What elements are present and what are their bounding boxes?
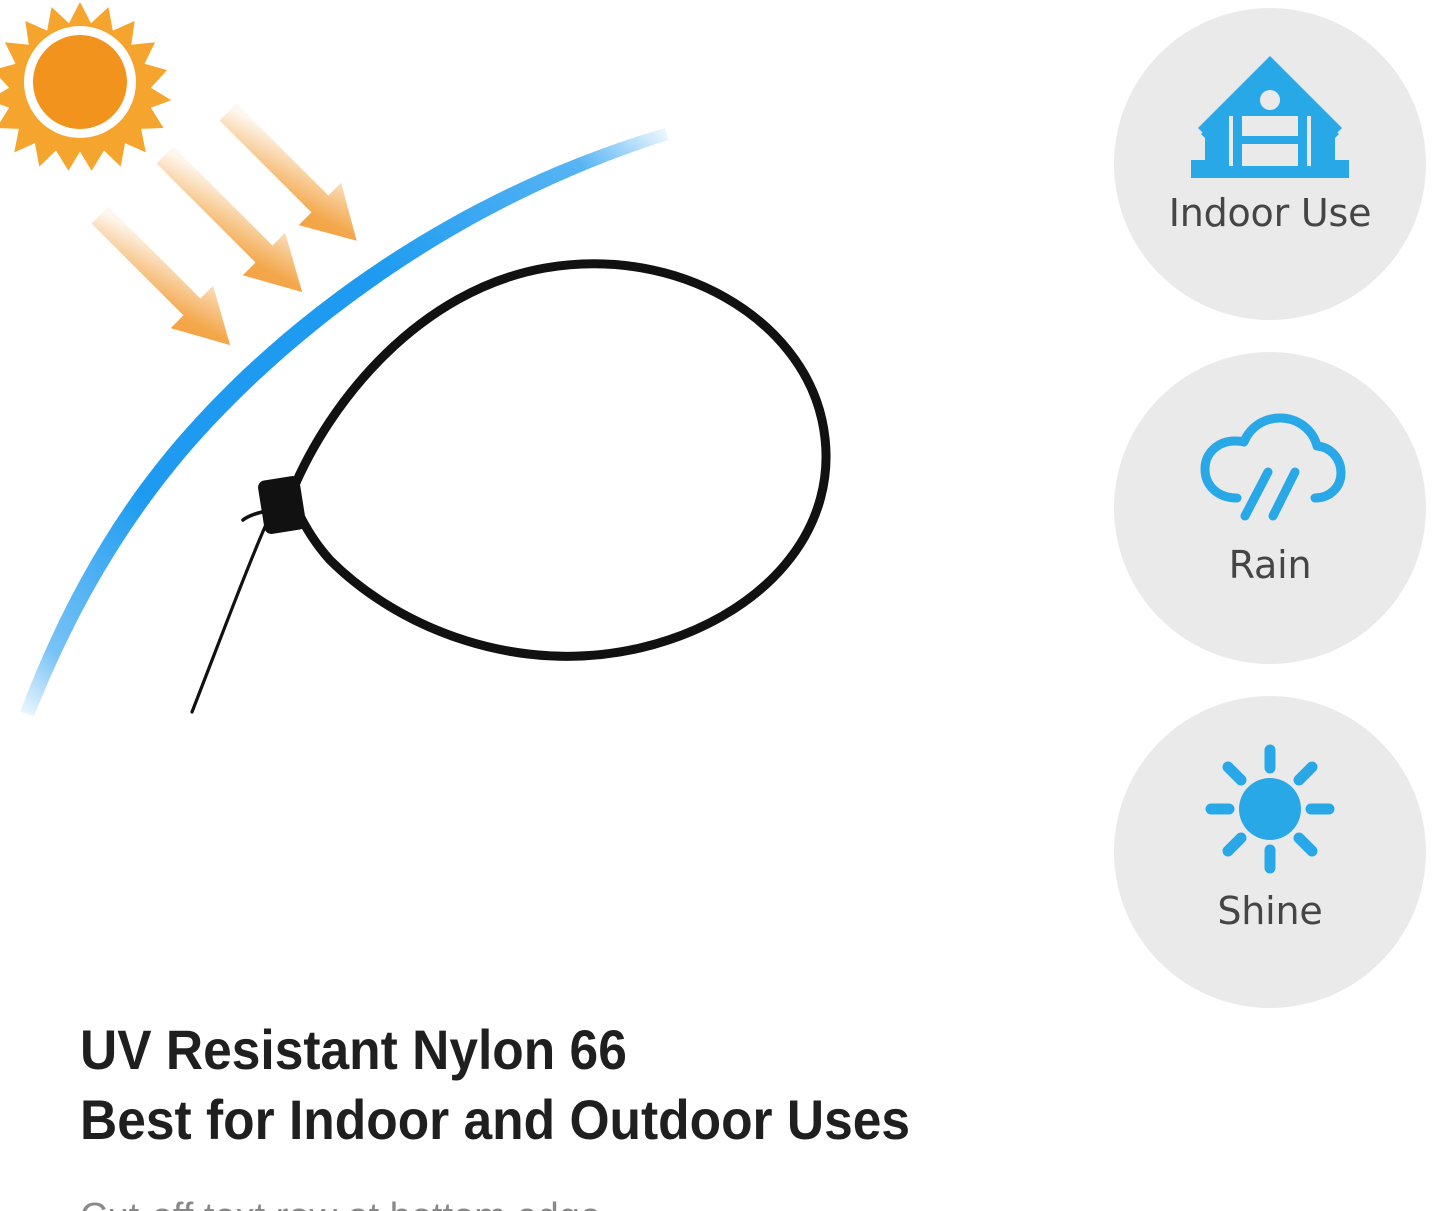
house-icon [1185,54,1355,184]
badge-label-rain: Rain [1229,546,1312,586]
feature-badge-column: Indoor Use Rain [1108,0,1432,1020]
badge-label-shine: Shine [1217,892,1322,932]
badge-rain[interactable]: Rain [1114,352,1426,664]
rain-cloud-icon [1185,406,1355,530]
headline-line-2: Best for Indoor and Outdoor Uses [80,1085,963,1155]
badge-indoor-use[interactable]: Indoor Use [1114,8,1426,320]
cable-tie-head [257,475,307,535]
product-infographic: Indoor Use Rain [0,0,1432,1211]
headline-line-1: UV Resistant Nylon 66 [80,1015,963,1085]
badge-label-indoor-use: Indoor Use [1169,194,1372,234]
headline-block: UV Resistant Nylon 66 Best for Indoor an… [80,1015,1040,1155]
cable-tie-tail [192,520,268,712]
cable-tie-loop [292,264,826,656]
cable-tie-stub [243,512,262,520]
sun-shine-icon [1185,744,1355,874]
bottom-clipped-text-row: Cut-off text row at bottom edge [80,1196,1040,1211]
badge-shine[interactable]: Shine [1114,696,1426,1008]
bottom-clipped-text: Cut-off text row at bottom edge [80,1196,1040,1211]
sun-icon [0,2,171,171]
uv-resistance-illustration [0,0,1080,1000]
